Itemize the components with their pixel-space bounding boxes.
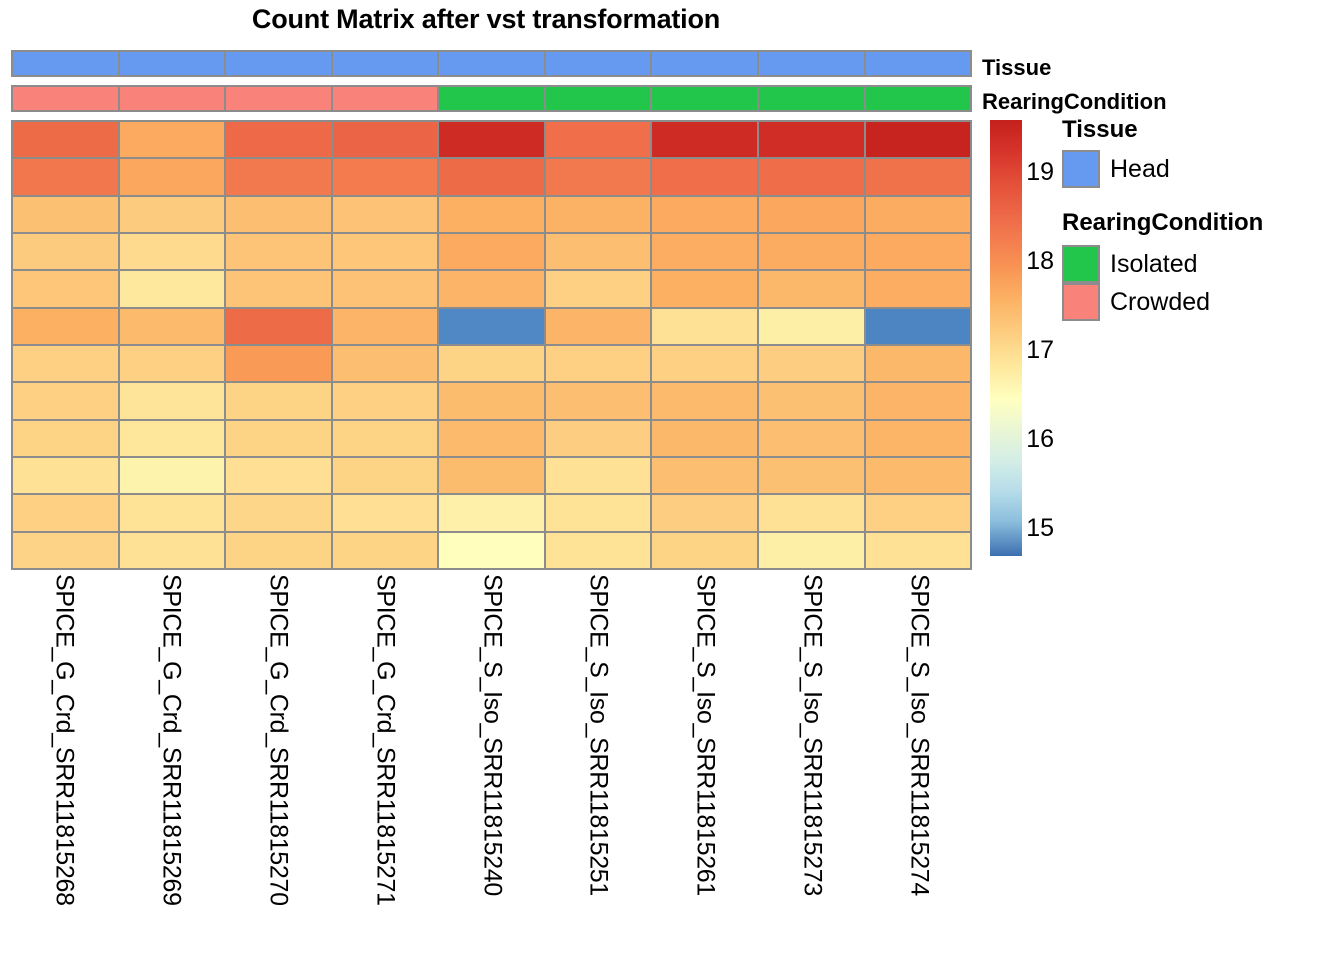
heatmap-cell bbox=[439, 122, 546, 157]
heatmap-cell bbox=[226, 421, 333, 456]
annotation-tissue-cell bbox=[866, 52, 971, 75]
heatmap-row bbox=[13, 234, 970, 271]
heatmap-cell bbox=[652, 346, 759, 381]
heatmap-cell bbox=[546, 495, 653, 530]
heatmap-row bbox=[13, 197, 970, 234]
heatmap-cell bbox=[439, 495, 546, 530]
heatmap-cell bbox=[333, 122, 440, 157]
column-label: SPICE_S_Iso_SRR11815251 bbox=[586, 574, 611, 896]
legend-title-rearingcondition: RearingCondition bbox=[1062, 209, 1263, 237]
heatmap-cell bbox=[333, 383, 440, 418]
annotation-rearing-cell bbox=[13, 87, 120, 110]
annotation-tissue-cell bbox=[120, 52, 227, 75]
heatmap-cell bbox=[866, 383, 971, 418]
heatmap-row bbox=[13, 533, 970, 568]
heatmap-cell bbox=[866, 495, 971, 530]
heatmap-row bbox=[13, 271, 970, 308]
heatmap-cell bbox=[759, 421, 866, 456]
heatmap-row bbox=[13, 458, 970, 495]
heatmap-grid bbox=[11, 120, 972, 570]
heatmap-cell bbox=[866, 122, 971, 157]
heatmap-cell bbox=[652, 421, 759, 456]
annotation-bar-tissue bbox=[11, 50, 972, 77]
legend-label-isolated: Isolated bbox=[1110, 245, 1198, 283]
annotation-tissue-cell bbox=[759, 52, 866, 75]
page-title: Count Matrix after vst transformation bbox=[0, 2, 972, 36]
legend-title-tissue: Tissue bbox=[1062, 116, 1138, 144]
heatmap-cell bbox=[759, 383, 866, 418]
column-label-slot: SPICE_S_Iso_SRR11815273 bbox=[758, 574, 865, 960]
legend-key-head[interactable] bbox=[1062, 150, 1100, 188]
heatmap-cell bbox=[226, 122, 333, 157]
heatmap-cell bbox=[652, 533, 759, 568]
heatmap-row bbox=[13, 122, 970, 159]
column-label-slot: SPICE_G_Crd_SRR11815268 bbox=[11, 574, 118, 960]
annotation-tissue-cell bbox=[13, 52, 120, 75]
heatmap-row bbox=[13, 346, 970, 383]
heatmap-cell bbox=[226, 458, 333, 493]
annotation-rearing-cell bbox=[439, 87, 546, 110]
heatmap-cell bbox=[546, 159, 653, 194]
heatmap-cell bbox=[333, 309, 440, 344]
heatmap-cell bbox=[439, 383, 546, 418]
heatmap-cell bbox=[13, 346, 120, 381]
heatmap-cell bbox=[866, 309, 971, 344]
column-label: SPICE_S_Iso_SRR11815273 bbox=[799, 574, 824, 896]
heatmap-cell bbox=[333, 197, 440, 232]
heatmap-cell bbox=[333, 421, 440, 456]
heatmap-cell bbox=[226, 197, 333, 232]
heatmap-cell bbox=[546, 309, 653, 344]
heatmap-cell bbox=[759, 159, 866, 194]
heatmap-cell bbox=[866, 159, 971, 194]
heatmap-cell bbox=[866, 533, 971, 568]
heatmap-cell bbox=[546, 383, 653, 418]
annotation-label-tissue: Tissue bbox=[982, 54, 1051, 81]
column-label-slot: SPICE_S_Iso_SRR11815240 bbox=[438, 574, 545, 960]
heatmap-row bbox=[13, 159, 970, 196]
heatmap-cell bbox=[333, 271, 440, 306]
heatmap-cell bbox=[120, 159, 227, 194]
column-label: SPICE_S_Iso_SRR11815274 bbox=[906, 574, 931, 896]
column-label-slot: SPICE_S_Iso_SRR11815261 bbox=[652, 574, 759, 960]
heatmap-cell bbox=[120, 421, 227, 456]
heatmap-cell bbox=[759, 346, 866, 381]
annotation-tissue-cell bbox=[333, 52, 440, 75]
heatmap-cell bbox=[333, 159, 440, 194]
heatmap-cell bbox=[13, 495, 120, 530]
heatmap-cell bbox=[333, 346, 440, 381]
heatmap-cell bbox=[226, 309, 333, 344]
heatmap-cell bbox=[120, 458, 227, 493]
heatmap-cell bbox=[546, 197, 653, 232]
heatmap-cell bbox=[13, 309, 120, 344]
heatmap-cell bbox=[866, 234, 971, 269]
heatmap-cell bbox=[546, 458, 653, 493]
heatmap-cell bbox=[759, 458, 866, 493]
heatmap-cell bbox=[120, 309, 227, 344]
heatmap-cell bbox=[226, 234, 333, 269]
heatmap-cell bbox=[546, 421, 653, 456]
annotation-label-rearingcondition: RearingCondition bbox=[982, 88, 1167, 115]
heatmap-cell bbox=[652, 122, 759, 157]
heatmap-cell bbox=[333, 458, 440, 493]
heatmap-cell bbox=[546, 122, 653, 157]
column-label-slot: SPICE_G_Crd_SRR11815270 bbox=[225, 574, 332, 960]
heatmap-cell bbox=[866, 421, 971, 456]
heatmap-cell bbox=[439, 346, 546, 381]
colorbar-gradient bbox=[990, 120, 1022, 556]
heatmap-cell bbox=[439, 197, 546, 232]
column-label: SPICE_G_Crd_SRR11815268 bbox=[52, 574, 77, 906]
colorbar-tick-label: 18 bbox=[1026, 249, 1054, 274]
heatmap-cell bbox=[439, 533, 546, 568]
heatmap-cell bbox=[13, 122, 120, 157]
heatmap-cell bbox=[759, 234, 866, 269]
column-label: SPICE_G_Crd_SRR11815269 bbox=[159, 574, 184, 906]
colorbar-tick-label: 19 bbox=[1026, 160, 1054, 185]
heatmap-cell bbox=[546, 533, 653, 568]
column-label-slot: SPICE_S_Iso_SRR11815274 bbox=[865, 574, 972, 960]
heatmap-cell bbox=[120, 495, 227, 530]
heatmap-cell bbox=[439, 458, 546, 493]
heatmap-cell bbox=[439, 271, 546, 306]
heatmap-cell bbox=[120, 122, 227, 157]
heatmap-cell bbox=[120, 234, 227, 269]
heatmap-cell bbox=[759, 271, 866, 306]
heatmap-cell bbox=[13, 383, 120, 418]
heatmap-cell bbox=[652, 309, 759, 344]
legend-key-isolated[interactable] bbox=[1062, 245, 1100, 283]
heatmap-cell bbox=[866, 197, 971, 232]
heatmap-cell bbox=[439, 421, 546, 456]
heatmap-cell bbox=[759, 309, 866, 344]
heatmap-cell bbox=[546, 234, 653, 269]
annotation-rearing-cell bbox=[333, 87, 440, 110]
heatmap-cell bbox=[333, 495, 440, 530]
heatmap-cell bbox=[13, 197, 120, 232]
heatmap-cell bbox=[546, 346, 653, 381]
heatmap-cell bbox=[546, 271, 653, 306]
annotation-rearing-cell bbox=[759, 87, 866, 110]
heatmap-cell bbox=[652, 495, 759, 530]
heatmap-cell bbox=[120, 533, 227, 568]
heatmap-cell bbox=[759, 495, 866, 530]
annotation-rearing-cell bbox=[120, 87, 227, 110]
heatmap-cell bbox=[226, 346, 333, 381]
column-labels: SPICE_G_Crd_SRR11815268SPICE_G_Crd_SRR11… bbox=[11, 574, 972, 960]
heatmap-cell bbox=[652, 458, 759, 493]
heatmap-cell bbox=[759, 197, 866, 232]
annotation-tissue-cell bbox=[652, 52, 759, 75]
heatmap-cell bbox=[13, 421, 120, 456]
heatmap-cell bbox=[439, 234, 546, 269]
heatmap-cell bbox=[120, 346, 227, 381]
annotation-rearing-cell bbox=[226, 87, 333, 110]
annotation-rearing-cell bbox=[866, 87, 971, 110]
heatmap-cell bbox=[120, 271, 227, 306]
legend-key-crowded[interactable] bbox=[1062, 283, 1100, 321]
legend-label-head: Head bbox=[1110, 150, 1170, 188]
heatmap-cell bbox=[439, 309, 546, 344]
heatmap-cell bbox=[652, 271, 759, 306]
colorbar bbox=[990, 120, 1022, 556]
heatmap-cell bbox=[226, 533, 333, 568]
heatmap-row bbox=[13, 309, 970, 346]
heatmap-cell bbox=[866, 271, 971, 306]
colorbar-tick-label: 17 bbox=[1026, 338, 1054, 363]
column-label-slot: SPICE_G_Crd_SRR11815269 bbox=[118, 574, 225, 960]
legend-label-crowded: Crowded bbox=[1110, 283, 1210, 321]
annotation-tissue-cell bbox=[226, 52, 333, 75]
heatmap-cell bbox=[120, 383, 227, 418]
heatmap-cell bbox=[226, 159, 333, 194]
column-label: SPICE_G_Crd_SRR11815271 bbox=[372, 574, 397, 906]
heatmap-cell bbox=[866, 458, 971, 493]
column-label: SPICE_S_Iso_SRR11815240 bbox=[479, 574, 504, 896]
heatmap-cell bbox=[652, 234, 759, 269]
heatmap-cell bbox=[439, 159, 546, 194]
column-label-slot: SPICE_G_Crd_SRR11815271 bbox=[331, 574, 438, 960]
heatmap-cell bbox=[759, 122, 866, 157]
annotation-rearing-cell bbox=[546, 87, 653, 110]
heatmap-cell bbox=[13, 533, 120, 568]
heatmap-cell bbox=[13, 234, 120, 269]
heatmap-cell bbox=[13, 271, 120, 306]
annotation-bar-rearing bbox=[11, 85, 972, 112]
heatmap-cell bbox=[333, 234, 440, 269]
annotation-tissue-cell bbox=[439, 52, 546, 75]
column-label: SPICE_G_Crd_SRR11815270 bbox=[265, 574, 290, 906]
heatmap-cell bbox=[13, 159, 120, 194]
annotation-rearing-cell bbox=[652, 87, 759, 110]
heatmap-cell bbox=[759, 533, 866, 568]
column-label: SPICE_S_Iso_SRR11815261 bbox=[693, 574, 718, 896]
heatmap-cell bbox=[652, 159, 759, 194]
colorbar-tick-label: 15 bbox=[1026, 516, 1054, 541]
heatmap-cell bbox=[226, 495, 333, 530]
heatmap-cell bbox=[226, 271, 333, 306]
heatmap-row bbox=[13, 495, 970, 532]
heatmap-cell bbox=[652, 197, 759, 232]
heatmap-cell bbox=[652, 383, 759, 418]
heatmap-row bbox=[13, 383, 970, 420]
annotation-tissue-cell bbox=[546, 52, 653, 75]
heatmap-cell bbox=[120, 197, 227, 232]
heatmap-row bbox=[13, 421, 970, 458]
heatmap-cell bbox=[333, 533, 440, 568]
heatmap-cell bbox=[13, 458, 120, 493]
heatmap-cell bbox=[866, 346, 971, 381]
heatmap-cell bbox=[226, 383, 333, 418]
colorbar-tick-label: 16 bbox=[1026, 427, 1054, 452]
column-label-slot: SPICE_S_Iso_SRR11815251 bbox=[545, 574, 652, 960]
